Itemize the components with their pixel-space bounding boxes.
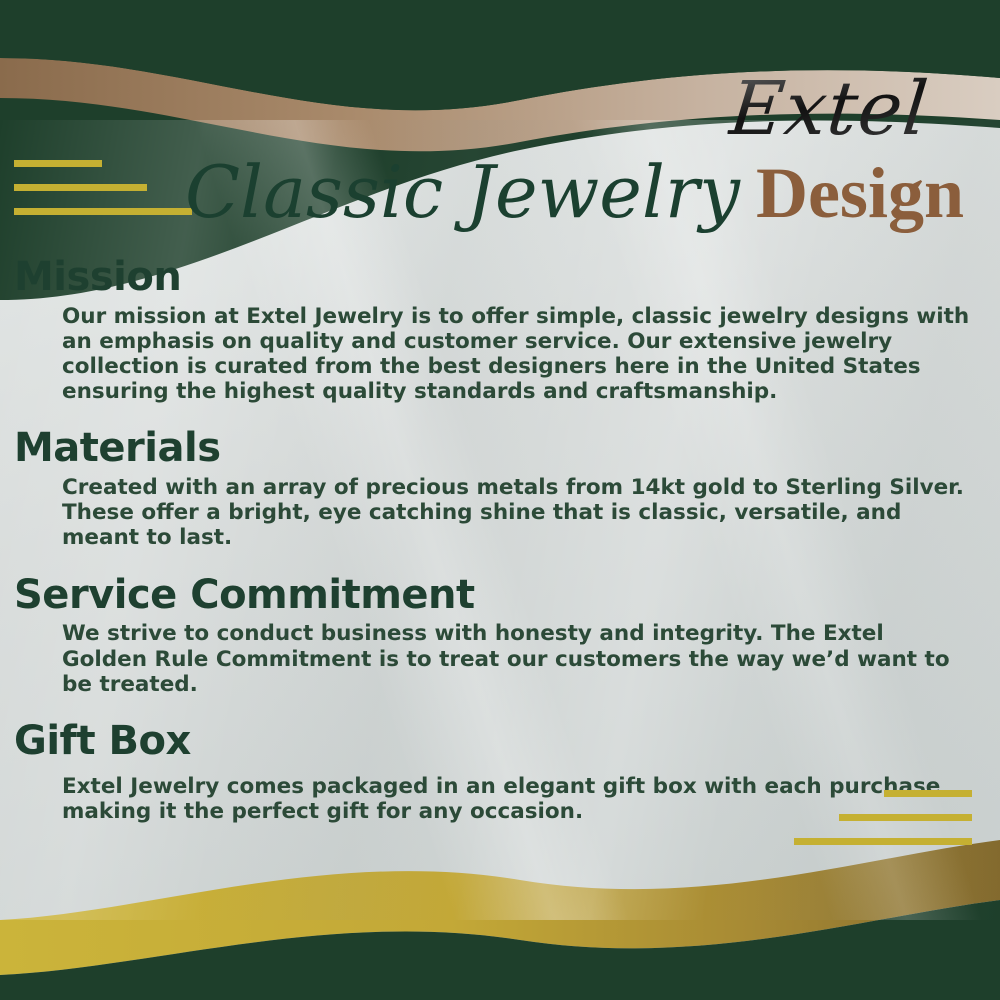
decorative-dashes-bottom-right (794, 790, 972, 845)
gold-dash-medium (839, 814, 972, 821)
page-title-primary: Classic Jewelry (185, 150, 740, 234)
section-body-service-commitment: We strive to conduct business with hones… (62, 621, 970, 696)
section-mission: Mission Our mission at Extel Jewelry is … (14, 255, 970, 404)
gold-dash-long (794, 838, 972, 845)
section-title-service-commitment: Service Commitment (14, 573, 970, 618)
page-title-secondary: Design (756, 153, 964, 233)
page-title: Classic JewelryDesign (0, 150, 964, 235)
section-materials: Materials Created with an array of preci… (14, 426, 970, 550)
section-title-mission: Mission (14, 255, 970, 300)
section-title-materials: Materials (14, 426, 970, 471)
poster-canvas: Extel Classic JewelryDesign Mission Our … (0, 0, 1000, 1000)
content-sections: Mission Our mission at Extel Jewelry is … (14, 255, 970, 824)
section-body-materials: Created with an array of precious metals… (62, 475, 970, 550)
brand-logo: Extel (730, 72, 928, 146)
gold-dash-short (884, 790, 972, 797)
section-title-gift-box: Gift Box (14, 719, 970, 764)
brand-logo-text: Extel (726, 72, 932, 146)
section-service-commitment: Service Commitment We strive to conduct … (14, 573, 970, 697)
section-body-mission: Our mission at Extel Jewelry is to offer… (62, 304, 970, 405)
